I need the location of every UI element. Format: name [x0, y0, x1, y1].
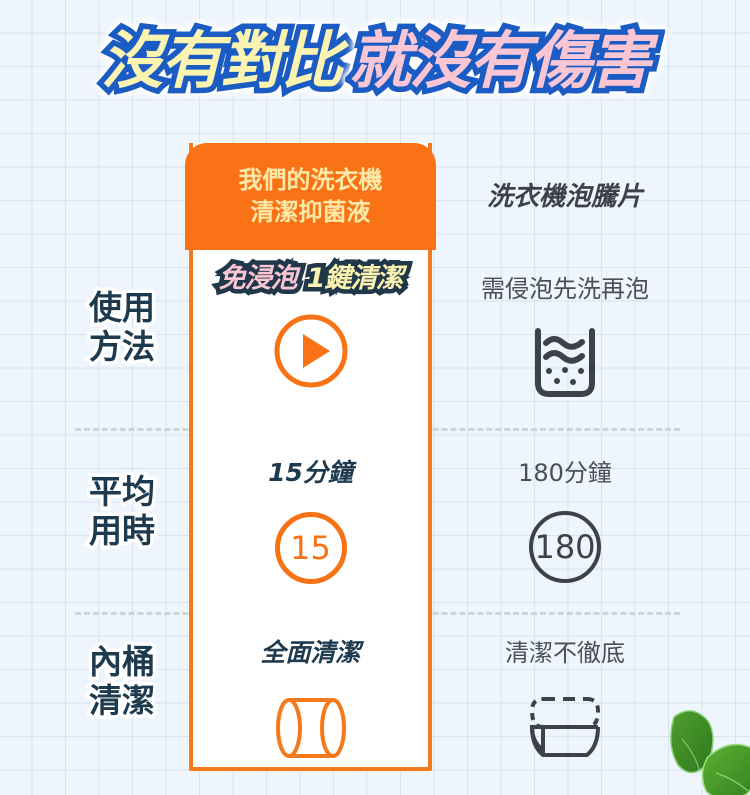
our-time-caption: 15分鐘	[193, 453, 428, 489]
icon-slot: 180	[440, 504, 690, 590]
icon-slot	[193, 308, 428, 394]
cell-ours-drum-cleaning: 全面清潔	[193, 633, 428, 771]
cell-ours-average-time: 15分鐘 15	[193, 453, 428, 591]
competitor-minutes-circle: 180	[529, 511, 601, 583]
icon-slot	[440, 684, 690, 770]
badge-one-key-clean: 1鍵清潔	[307, 265, 403, 292]
our-product-header: 我們的洗衣機 清潔抑菌液	[185, 143, 436, 250]
cell-theirs-average-time: 180分鐘 180	[440, 453, 690, 590]
poster-canvas: 沒有對比就沒有傷害 我們的洗衣機 清潔抑菌液 洗衣機泡騰片 使用 方法 平均 用…	[0, 0, 750, 795]
cell-theirs-usage-method: 需侵泡先洗再泡	[440, 269, 690, 406]
comparison-table: 我們的洗衣機 清潔抑菌液 洗衣機泡騰片 使用 方法 平均 用時 內桶 清潔 免浸…	[0, 143, 750, 783]
cell-ours-usage-method: 免浸泡1鍵清潔	[193, 265, 428, 394]
title-part-primary: 沒有對比	[101, 28, 341, 93]
competitor-usage-caption: 需侵泡先洗再泡	[440, 269, 690, 304]
drum-partial-icon	[523, 694, 607, 760]
our-minutes-circle: 15	[275, 512, 347, 584]
drum-full-icon	[269, 695, 353, 761]
row-label-usage-method: 使用 方法	[58, 289, 186, 367]
competitor-time-caption: 180分鐘	[440, 453, 690, 488]
our-product-header-label: 我們的洗衣機 清潔抑菌液	[239, 165, 383, 227]
title-part-secondary: 就沒有傷害	[349, 28, 649, 93]
row-label-drum-cleaning: 內桶 清潔	[58, 643, 186, 721]
cell-theirs-drum-cleaning: 清潔不徹底	[440, 633, 690, 770]
our-drum-caption: 全面清潔	[193, 633, 428, 669]
row-label-average-time: 平均 用時	[58, 473, 186, 551]
icon-slot	[193, 685, 428, 771]
icon-slot: 15	[193, 505, 428, 591]
competitor-drum-caption: 清潔不徹底	[440, 633, 690, 668]
badge-no-soak: 免浸泡	[219, 265, 297, 292]
icon-slot	[440, 320, 690, 406]
competitor-header-label: 洗衣機泡騰片	[440, 176, 690, 213]
page-title: 沒有對比就沒有傷害	[0, 28, 750, 93]
usage-badges: 免浸泡1鍵清潔	[193, 265, 428, 292]
soak-basin-icon	[524, 325, 606, 401]
play-circle-icon	[272, 312, 350, 390]
